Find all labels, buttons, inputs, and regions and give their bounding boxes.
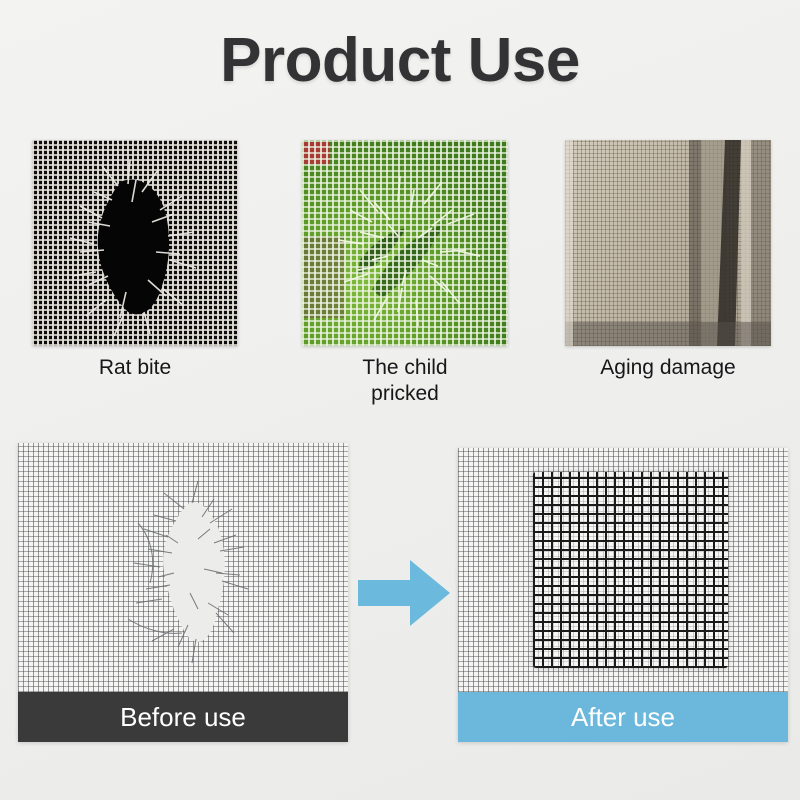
right-arrow-icon [356,556,452,630]
before-use-label: Before use [120,702,246,733]
after-use-banner: After use [458,692,788,742]
before-use-banner: Before use [18,692,348,742]
damage-tile-child-pricked [302,140,508,346]
after-use-panel: After use [458,448,788,742]
window-frame-edge [565,140,771,346]
damage-caption-aging-damage: Aging damage [548,355,788,381]
caption-line-2: pricked [285,381,525,407]
page-title: Product Use [0,28,800,93]
damage-caption-child-pricked: The child pricked [285,355,525,406]
after-use-label: After use [571,702,675,733]
repaired-screen-photo [458,448,788,692]
before-use-panel: Before use [18,443,348,742]
damage-tile-rat-bite [32,140,238,346]
damage-caption-rat-bite: Rat bite [15,355,255,381]
tear-hole-shape [18,443,348,692]
caption-line-1: The child [285,355,525,381]
tear-hole-shape [32,140,238,346]
damage-tile-aging-damage [565,140,771,346]
damaged-screen-photo [18,443,348,692]
product-use-infographic: Product Use [0,0,800,800]
tear-hole-shape [302,140,508,346]
repair-mesh-patch [533,472,728,668]
